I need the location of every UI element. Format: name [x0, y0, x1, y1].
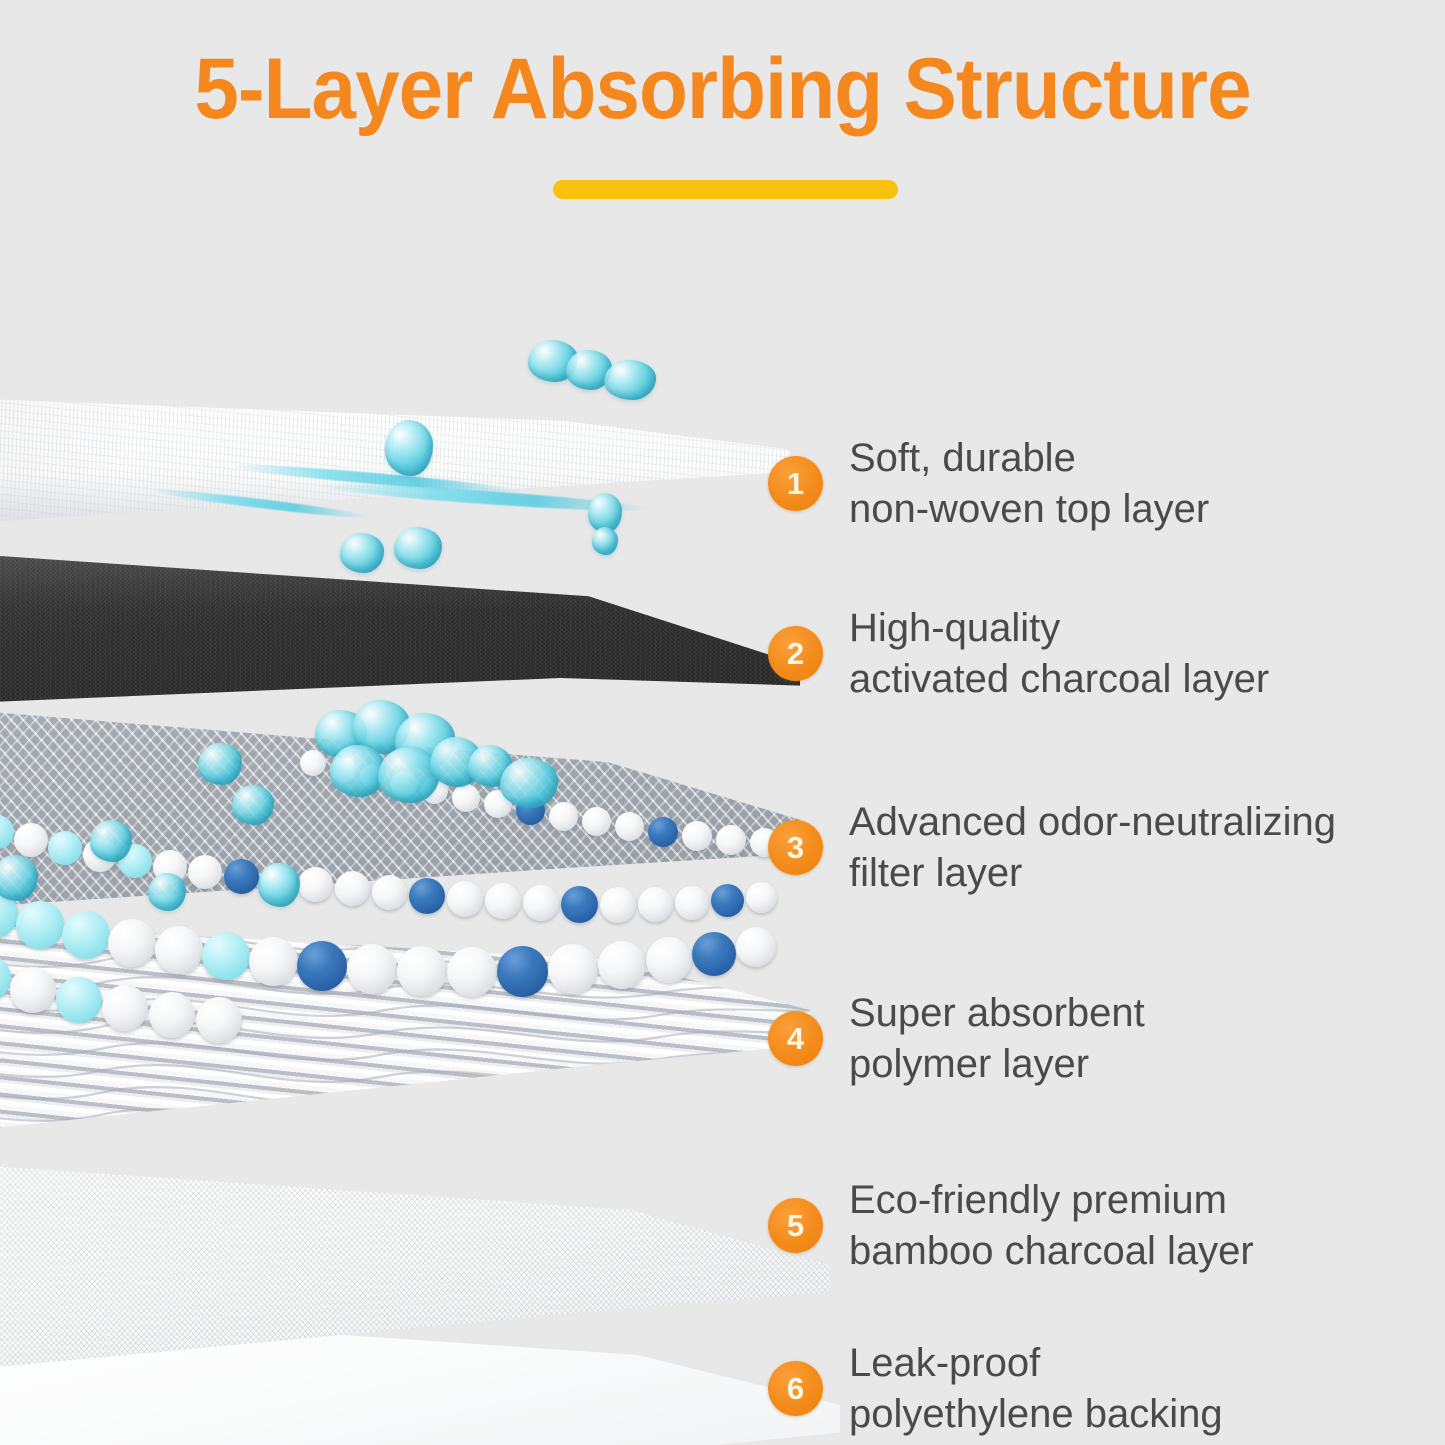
- callout-badge-3: 3: [768, 820, 823, 875]
- callout-badge-5: 5: [768, 1198, 823, 1253]
- callout-1[interactable]: 1 Soft, durable non-woven top layer: [768, 433, 1209, 535]
- callout-text-6: Leak-proof polyethylene backing: [849, 1338, 1223, 1440]
- callout-3[interactable]: 3 Advanced odor-neutralizing filter laye…: [768, 797, 1336, 899]
- callout-4[interactable]: 4 Super absorbent polymer layer: [768, 988, 1145, 1090]
- callout-text-1: Soft, durable non-woven top layer: [849, 433, 1209, 535]
- title-underline-bar: [553, 180, 898, 199]
- callout-badge-2: 2: [768, 626, 823, 681]
- callout-5[interactable]: 5 Eco-friendly premium bamboo charcoal l…: [768, 1175, 1254, 1277]
- page-title: 5-Layer Absorbing Structure: [51, 46, 1395, 132]
- callout-text-5: Eco-friendly premium bamboo charcoal lay…: [849, 1175, 1254, 1277]
- callout-badge-4: 4: [768, 1011, 823, 1066]
- callout-6[interactable]: 6 Leak-proof polyethylene backing: [768, 1338, 1223, 1440]
- callout-text-3: Advanced odor-neutralizing filter layer: [849, 797, 1336, 899]
- callout-badge-1: 1: [768, 456, 823, 511]
- callout-text-2: High-quality activated charcoal layer: [849, 603, 1269, 705]
- product-layer-illustration: [0, 255, 860, 1445]
- callout-text-4: Super absorbent polymer layer: [849, 988, 1145, 1090]
- callout-2[interactable]: 2 High-quality activated charcoal layer: [768, 603, 1269, 705]
- callout-badge-6: 6: [768, 1361, 823, 1416]
- infographic-canvas: 5-Layer Absorbing Structure: [0, 0, 1445, 1445]
